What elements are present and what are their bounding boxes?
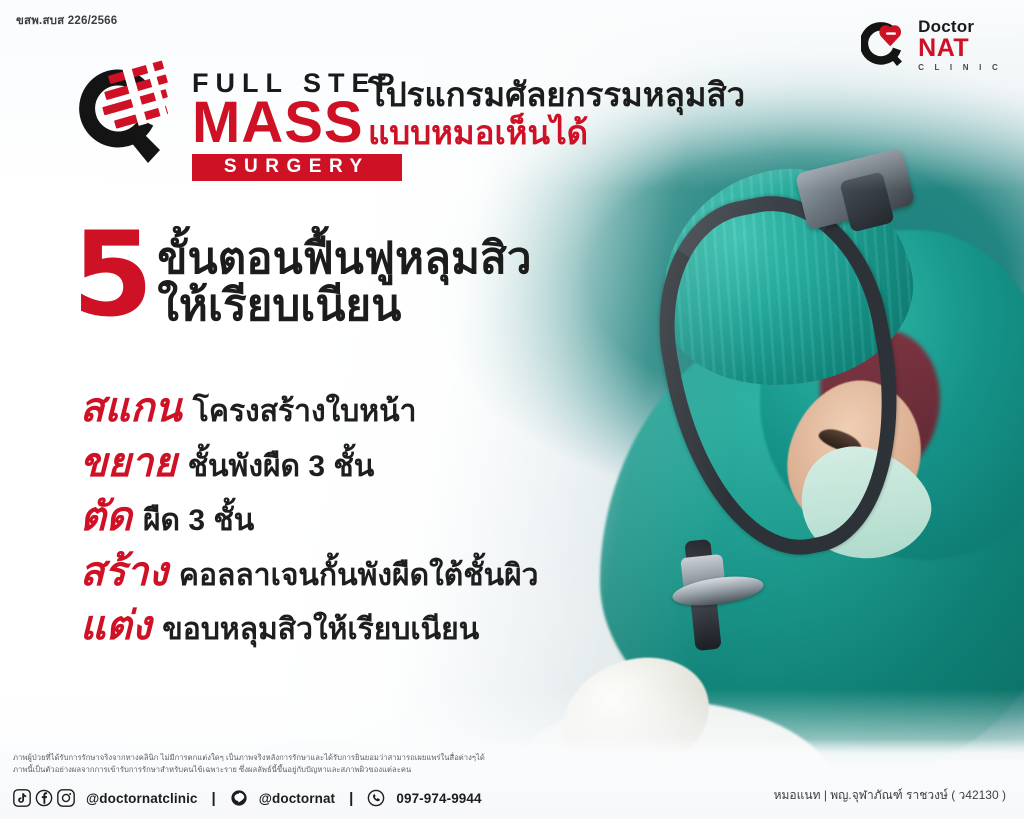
- legal-disclaimer-line2: ภาพนี้เป็นตัวอย่างผลจากการเข้ารับการรักษ…: [13, 764, 485, 776]
- line-icon[interactable]: [230, 789, 248, 807]
- five-steps-text: ขั้นตอนฟื้นฟูหลุมสิว ให้เรียบเนียน: [157, 228, 531, 329]
- clinic-name-nat: NAT: [918, 36, 1002, 61]
- step-item-4: สร้าง คอลลาเจนกั้นพังผืดใต้ชั้นผิว: [80, 550, 539, 596]
- social-divider-2: |: [349, 790, 353, 807]
- clinic-logo: Doctor NAT C L I N I C: [861, 18, 1002, 72]
- steps-list: สแกน โครงสร้างใบหน้า ขยาย ชั้นพังผืด 3 ช…: [80, 386, 539, 659]
- doctor-credit: หมอแนท | พญ.จุฬาภัณฑ์ ราชวงษ์ ( ว42130 ): [774, 786, 1006, 805]
- clinic-logo-wordmark: Doctor NAT C L I N I C: [918, 18, 1002, 72]
- clinic-name-doctor: Doctor: [918, 18, 1002, 35]
- legal-disclaimer: ภาพผู้ป่วยที่ได้รับการรักษาจริงจากทางคลิ…: [13, 752, 485, 777]
- five-steps-headline-line2: ให้เรียบเนียน: [157, 283, 531, 328]
- social-divider-1: |: [212, 790, 216, 807]
- instagram-icon[interactable]: [57, 789, 75, 807]
- program-headline-line1: โปรแกรมศัลยกรรมหลุมสิว: [368, 78, 745, 112]
- contact-phone-number[interactable]: 097-974-9944: [396, 791, 481, 806]
- step-5-keyword: แต่ง: [80, 604, 151, 650]
- phone-icon[interactable]: [367, 789, 385, 807]
- social-handle-line[interactable]: @doctornat: [259, 791, 335, 806]
- step-4-keyword: สร้าง: [80, 550, 168, 596]
- facebook-icon[interactable]: [35, 789, 53, 807]
- tiktok-icon[interactable]: [13, 789, 31, 807]
- program-headline: โปรแกรมศัลยกรรมหลุมสิว แบบหมอเห็นได้: [368, 78, 745, 149]
- social-contact-bar: @doctornatclinic | @doctornat | 097-974-…: [13, 789, 482, 807]
- five-steps-headline-line1: ขั้นตอนฟื้นฟูหลุมสิว: [157, 236, 531, 281]
- poster-canvas: ขสพ.สบส 226/2566 Doctor NAT C L I N I C: [0, 0, 1024, 819]
- step-item-3: ตัด ผืด 3 ชั้น: [80, 495, 539, 541]
- five-steps-headline: 5 ขั้นตอนฟื้นฟูหลุมสิว ให้เรียบเนียน: [72, 228, 532, 329]
- step-4-detail: คอลลาเจนกั้นพังผืดใต้ชั้นผิว: [179, 559, 539, 593]
- step-2-detail: ชั้นพังผืด 3 ชั้น: [188, 450, 375, 484]
- step-item-1: สแกน โครงสร้างใบหน้า: [80, 386, 539, 432]
- program-headline-line2: แบบหมอเห็นได้: [368, 116, 745, 150]
- registration-code: ขสพ.สบส 226/2566: [16, 12, 117, 30]
- step-1-keyword: สแกน: [80, 386, 182, 432]
- step-3-detail: ผืด 3 ชั้น: [143, 504, 254, 538]
- step-item-2: ขยาย ชั้นพังผืด 3 ชั้น: [80, 441, 539, 487]
- doctor-nat-q-heart-mark-icon: [861, 21, 909, 69]
- footer-bar: [0, 739, 1024, 819]
- step-1-detail: โครงสร้างใบหน้า: [193, 395, 417, 429]
- mass-q-magnifier-mark-icon: [78, 60, 178, 168]
- social-icon-group: [13, 789, 75, 807]
- full-step-mass-surgery-lockup: FULL STEP MASS SURGERY: [78, 60, 402, 181]
- five-steps-number: 5: [72, 228, 149, 322]
- step-item-5: แต่ง ขอบหลุมสิวให้เรียบเนียน: [80, 604, 539, 650]
- wordmark-surgery: SURGERY: [224, 156, 370, 177]
- clinic-name-clinic: C L I N I C: [918, 64, 1002, 72]
- wordmark-surgery-bar: SURGERY: [192, 154, 402, 181]
- step-2-keyword: ขยาย: [80, 441, 177, 487]
- social-handle-main[interactable]: @doctornatclinic: [86, 791, 198, 806]
- legal-disclaimer-line1: ภาพผู้ป่วยที่ได้รับการรักษาจริงจากทางคลิ…: [13, 752, 485, 764]
- step-3-keyword: ตัด: [80, 495, 132, 541]
- step-5-detail: ขอบหลุมสิวให้เรียบเนียน: [162, 613, 479, 647]
